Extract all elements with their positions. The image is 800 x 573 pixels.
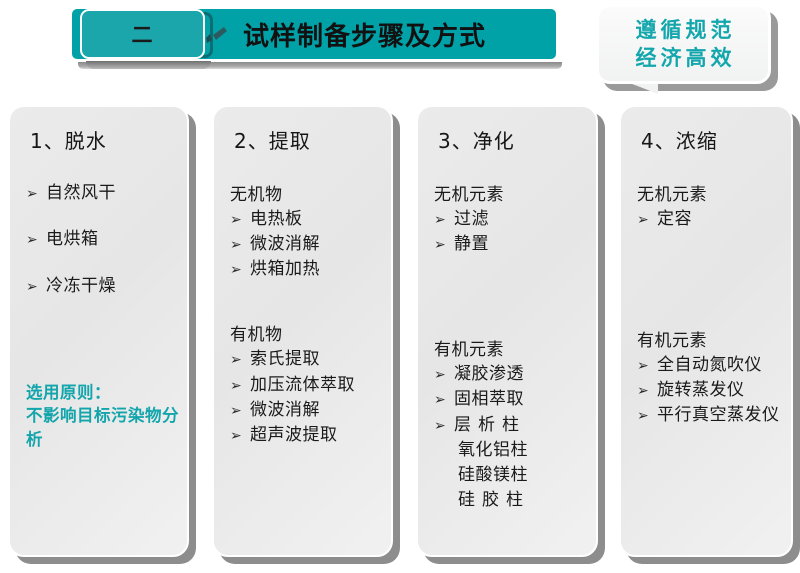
list-item-label: 定容 [657, 207, 692, 232]
section-number-badge[interactable]: 二 [80, 9, 205, 59]
bullet-arrow-icon: ➢ [26, 184, 46, 205]
bullet-list: ➢ 自然风干 ➢ 电烘箱 ➢ 冷冻干燥 [26, 180, 183, 299]
note-label: 选用原则： [26, 381, 183, 404]
list-item-label: 超声波提取 [250, 423, 338, 448]
list-item-label: 电烘箱 [46, 226, 99, 252]
card-title: 1、脱水 [30, 125, 183, 154]
list-item-label: 电热板 [250, 207, 303, 232]
page-title: 试样制备步骤及方式 [243, 9, 486, 59]
card-title: 2、提取 [234, 125, 387, 154]
step-card-concentration[interactable]: 4、浓缩 无机元素 ➢ 定容 有机元素 ➢ 全自动氮吹仪 ➢ 旋转蒸发仪 ➢ 平… [619, 105, 793, 557]
list-item-label: 加压流体萃取 [250, 373, 355, 398]
slogan-callout: 遵循规范 经济高效 [596, 4, 771, 84]
group-heading-inorganic: 无机元素 [637, 180, 787, 205]
list-item-label: 旋转蒸发仪 [657, 378, 745, 403]
list-item-label: 固相萃取 [454, 387, 524, 412]
list-item-label: 微波消解 [250, 232, 320, 257]
bullet-list: ➢ 索氏提取 ➢ 加压流体萃取 ➢ 微波消解 ➢ 超声波提取 [230, 347, 387, 448]
step-card-purification[interactable]: 3、净化 无机元素 ➢ 过滤 ➢ 静置 有机元素 ➢ 凝胶渗透 ➢ 固相萃取 [416, 105, 598, 557]
list-item[interactable]: ➢ 全自动氮吹仪 [637, 353, 787, 378]
list-item-label: 烘箱加热 [250, 257, 320, 282]
list-item[interactable]: ➢ 旋转蒸发仪 [637, 378, 787, 403]
list-item[interactable]: ➢ 电热板 [230, 207, 387, 232]
arrow-marker-icon [204, 26, 230, 46]
bullet-arrow-icon: ➢ [637, 381, 657, 402]
list-item[interactable]: ➢ 自然风干 [26, 180, 183, 206]
section-badge-shadow [86, 61, 211, 69]
group-heading-organic: 有机元素 [434, 335, 592, 360]
bullet-list: ➢ 全自动氮吹仪 ➢ 旋转蒸发仪 ➢ 平行真空蒸发仪 [637, 353, 787, 428]
bullet-list: ➢ 凝胶渗透 ➢ 固相萃取 ➢ 层析柱 [434, 362, 592, 437]
list-item[interactable]: ➢ 冷冻干燥 [26, 273, 183, 299]
card-body: 3、净化 无机元素 ➢ 过滤 ➢ 静置 有机元素 ➢ 凝胶渗透 ➢ 固相萃取 [416, 105, 598, 557]
bullet-arrow-icon: ➢ [434, 390, 454, 411]
bullet-arrow-icon: ➢ [230, 260, 250, 281]
slogan-line-1: 遵循规范 [632, 16, 736, 44]
slogan-line-2: 经济高效 [632, 44, 736, 72]
bullet-arrow-icon: ➢ [637, 406, 657, 427]
list-item[interactable]: ➢ 微波消解 [230, 398, 387, 423]
list-item-label: 冷冻干燥 [46, 273, 116, 299]
group-heading-organic: 有机物 [230, 320, 387, 345]
step-card-dehydration[interactable]: 1、脱水 ➢ 自然风干 ➢ 电烘箱 ➢ 冷冻干燥 选用原则： 不影响目标污染物分… [8, 105, 189, 557]
card-body: 4、浓缩 无机元素 ➢ 定容 有机元素 ➢ 全自动氮吹仪 ➢ 旋转蒸发仪 ➢ 平… [619, 105, 793, 557]
bullet-list: ➢ 过滤 ➢ 静置 [434, 207, 592, 257]
spacer [637, 232, 787, 310]
list-item[interactable]: ➢ 定容 [637, 207, 787, 232]
list-item-label: 平行真空蒸发仪 [657, 403, 780, 428]
bullet-arrow-icon: ➢ [434, 416, 454, 437]
bullet-list: ➢ 定容 [637, 207, 787, 232]
bullet-arrow-icon: ➢ [26, 230, 46, 251]
list-item[interactable]: ➢ 层析柱 [434, 413, 592, 438]
list-item[interactable]: ➢ 固相萃取 [434, 387, 592, 412]
spacer [637, 310, 787, 326]
group-heading-inorganic: 无机物 [230, 180, 387, 205]
section-number-label: 二 [132, 19, 154, 49]
list-item-label: 静置 [454, 232, 489, 257]
list-item[interactable]: ➢ 过滤 [434, 207, 592, 232]
list-item[interactable]: ➢ 微波消解 [230, 232, 387, 257]
list-item-label: 索氏提取 [250, 347, 320, 372]
bullet-arrow-icon: ➢ [637, 210, 657, 231]
bullet-arrow-icon: ➢ [230, 426, 250, 447]
sub-list-item: 氧化铝柱 [434, 438, 592, 463]
list-item-label: 过滤 [454, 207, 489, 232]
bullet-arrow-icon: ➢ [230, 376, 250, 397]
list-item[interactable]: ➢ 烘箱加热 [230, 257, 387, 282]
bullet-arrow-icon: ➢ [230, 210, 250, 231]
spacer [26, 319, 183, 381]
list-item[interactable]: ➢ 加压流体萃取 [230, 373, 387, 398]
bullet-arrow-icon: ➢ [230, 350, 250, 371]
list-item-label: 自然风干 [46, 180, 116, 206]
bullet-list: ➢ 电热板 ➢ 微波消解 ➢ 烘箱加热 [230, 207, 387, 282]
list-item[interactable]: ➢ 索氏提取 [230, 347, 387, 372]
list-item-label: 全自动氮吹仪 [657, 353, 762, 378]
list-item-label: 层析柱 [454, 413, 526, 438]
bullet-arrow-icon: ➢ [26, 277, 46, 298]
sub-list-item: 硅胶柱 [434, 488, 592, 513]
spacer [434, 257, 592, 335]
card-title: 3、净化 [438, 125, 592, 154]
step-card-extraction[interactable]: 2、提取 无机物 ➢ 电热板 ➢ 微波消解 ➢ 烘箱加热 有机物 ➢ 索氏提取 [212, 105, 393, 557]
note-text: 不影响目标污染物分析 [26, 404, 183, 451]
list-item-label: 凝胶渗透 [454, 362, 524, 387]
list-item-label: 微波消解 [250, 398, 320, 423]
list-item[interactable]: ➢ 电烘箱 [26, 226, 183, 252]
list-item[interactable]: ➢ 凝胶渗透 [434, 362, 592, 387]
list-item[interactable]: ➢ 静置 [434, 232, 592, 257]
bullet-arrow-icon: ➢ [230, 401, 250, 422]
group-heading-inorganic: 无机元素 [434, 180, 592, 205]
bullet-arrow-icon: ➢ [434, 365, 454, 386]
group-heading-organic: 有机元素 [637, 326, 787, 351]
card-body: 2、提取 无机物 ➢ 电热板 ➢ 微波消解 ➢ 烘箱加热 有机物 ➢ 索氏提取 [212, 105, 393, 557]
spacer [230, 282, 387, 320]
selection-principle-note: 选用原则： 不影响目标污染物分析 [26, 381, 183, 451]
bullet-arrow-icon: ➢ [434, 235, 454, 256]
bullet-arrow-icon: ➢ [637, 356, 657, 377]
bullet-arrow-icon: ➢ [230, 235, 250, 256]
bullet-arrow-icon: ➢ [434, 210, 454, 231]
card-title: 4、浓缩 [641, 125, 787, 154]
card-body: 1、脱水 ➢ 自然风干 ➢ 电烘箱 ➢ 冷冻干燥 选用原则： 不影响目标污染物分… [8, 105, 189, 557]
list-item[interactable]: ➢ 平行真空蒸发仪 [637, 403, 787, 428]
list-item[interactable]: ➢ 超声波提取 [230, 423, 387, 448]
sub-list-item: 硅酸镁柱 [434, 463, 592, 488]
